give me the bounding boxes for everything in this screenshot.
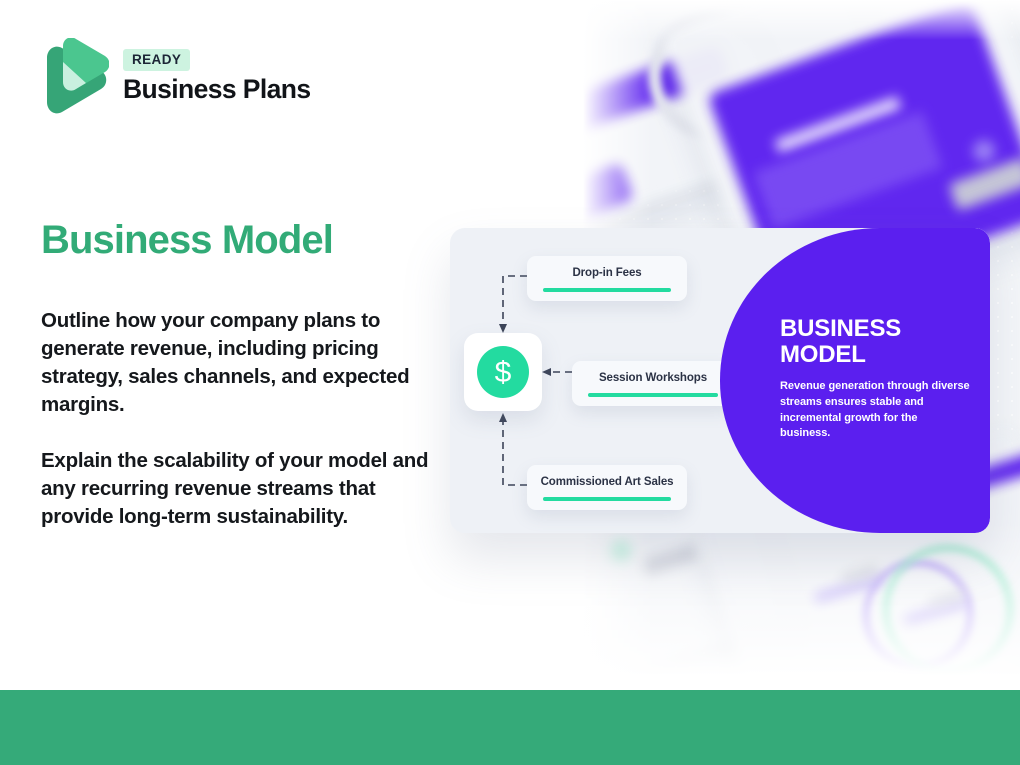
business-model-diagram-card: $ Drop-in Fees Session Workshops Commiss… <box>450 228 990 533</box>
revenue-center-tile: $ <box>464 333 542 411</box>
svg-text:$: $ <box>495 356 512 389</box>
node-label: Commissioned Art Sales <box>541 476 674 488</box>
photo-fade-bottom <box>583 520 1020 690</box>
page-title: Business Model <box>41 218 333 262</box>
panel-title: BUSINESS MODEL <box>780 316 970 367</box>
brand-text: READY Business Plans <box>123 49 311 104</box>
footer-bar <box>0 690 1020 765</box>
node-accent-bar <box>543 288 671 292</box>
panel-title-line1: BUSINESS <box>780 316 970 342</box>
body-copy: Outline how your company plans to genera… <box>41 307 441 532</box>
slide-canvas: READY Business Plans Business Model Outl… <box>0 0 1020 765</box>
node-label: Drop-in Fees <box>572 267 641 279</box>
node-label: Session Workshops <box>599 372 707 384</box>
brand-logo: READY Business Plans <box>41 38 311 116</box>
ready-badge: READY <box>123 49 190 71</box>
play-triangle-logo-icon <box>41 38 109 116</box>
paragraph-1: Outline how your company plans to genera… <box>41 307 441 419</box>
diagram-node[interactable]: Session Workshops <box>572 361 734 406</box>
diagram-node[interactable]: Commissioned Art Sales <box>527 465 687 510</box>
panel-description: Revenue generation through diverse strea… <box>780 379 970 441</box>
diagram-node[interactable]: Drop-in Fees <box>527 256 687 301</box>
node-accent-bar <box>588 393 718 397</box>
panel-content: BUSINESS MODEL Revenue generation throug… <box>780 316 970 442</box>
brand-name: Business Plans <box>123 74 311 104</box>
node-accent-bar <box>543 497 671 501</box>
paragraph-2: Explain the scalability of your model an… <box>41 447 441 531</box>
dollar-sign-icon: $ <box>477 346 529 398</box>
panel-title-line2: MODEL <box>780 342 970 368</box>
